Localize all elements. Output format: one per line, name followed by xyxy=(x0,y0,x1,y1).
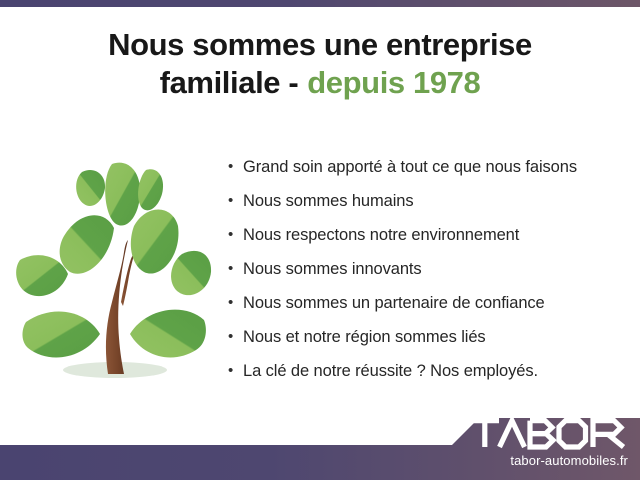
logo-url-label: tabor-automobiles.fr xyxy=(468,454,628,467)
bullet-marker-icon: • xyxy=(228,184,243,218)
tree-leaf-upper-left xyxy=(60,215,114,274)
list-item-label: Nous sommes innovants xyxy=(243,252,422,286)
headline-accent-year: depuis 1978 xyxy=(307,65,480,100)
bullet-marker-icon: • xyxy=(228,150,243,184)
tree-leaf-lower-left xyxy=(22,312,100,358)
list-item: •La clé de notre réussite ? Nos employés… xyxy=(228,354,628,388)
bullet-marker-icon: • xyxy=(228,252,243,286)
slide-root: Nous sommes une entreprise familiale -de… xyxy=(0,0,640,480)
list-item: •Nous sommes un partenaire de confiance xyxy=(228,286,628,320)
brand-logo[interactable]: tabor-automobiles.fr xyxy=(468,416,628,467)
headline-line-2-prefix: familiale - xyxy=(160,65,299,100)
headline-line-1: Nous sommes une entreprise xyxy=(0,26,640,64)
list-item: •Nous et notre région sommes liés xyxy=(228,320,628,354)
tree-leaf-top-left-small xyxy=(76,170,105,206)
logo-wordmark xyxy=(468,416,628,450)
tree-leaf-lower-right xyxy=(130,310,206,358)
list-item: •Nous respectons notre environnement xyxy=(228,218,628,252)
tree-leaf-top-center xyxy=(105,163,140,226)
list-item-label: La clé de notre réussite ? Nos employés. xyxy=(243,354,538,388)
bullet-marker-icon: • xyxy=(228,320,243,354)
headline-line-2: familiale -depuis 1978 xyxy=(0,64,640,102)
footer-banner: tabor-automobiles.fr xyxy=(0,405,640,480)
bullet-marker-icon: • xyxy=(228,286,243,320)
list-item-label: Nous sommes humains xyxy=(243,184,414,218)
tree-trunk xyxy=(106,240,128,374)
tree-leaf-top-right-small xyxy=(138,169,163,210)
values-list: •Grand soin apporté à tout ce que nous f… xyxy=(228,150,628,388)
list-item: •Nous sommes humains xyxy=(228,184,628,218)
tree-illustration xyxy=(12,152,212,387)
list-item: •Nous sommes innovants xyxy=(228,252,628,286)
list-item-label: Nous respectons notre environnement xyxy=(243,218,519,252)
list-item-label: Grand soin apporté à tout ce que nous fa… xyxy=(243,150,577,184)
tree-leaf-mid-left xyxy=(16,255,68,296)
list-item-label: Nous et notre région sommes liés xyxy=(243,320,486,354)
bullet-marker-icon: • xyxy=(228,354,243,388)
bullet-marker-icon: • xyxy=(228,218,243,252)
tree-leaf-mid-right xyxy=(171,251,211,295)
list-item: •Grand soin apporté à tout ce que nous f… xyxy=(228,150,628,184)
page-title: Nous sommes une entreprise familiale -de… xyxy=(0,26,640,102)
list-item-label: Nous sommes un partenaire de confiance xyxy=(243,286,545,320)
top-accent-strip xyxy=(0,0,640,7)
tree-leaf-upper-right xyxy=(131,210,179,274)
